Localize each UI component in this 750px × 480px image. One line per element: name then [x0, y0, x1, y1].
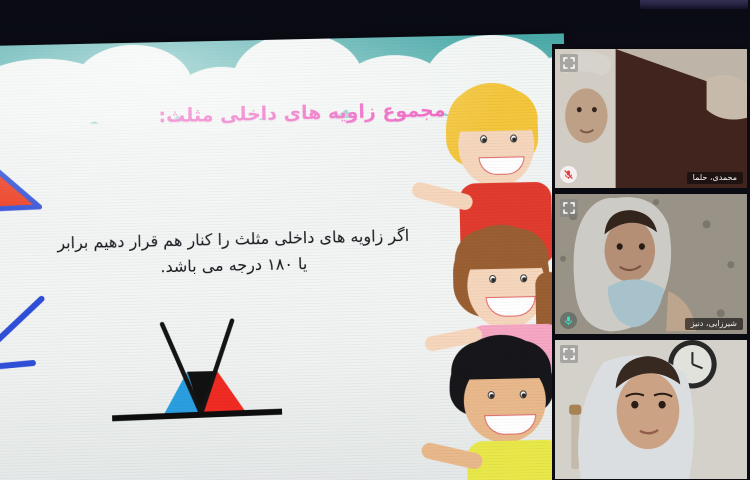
video-tile[interactable] [554, 339, 748, 480]
kid-eye [489, 275, 496, 283]
microphone-on-icon[interactable] [560, 312, 577, 329]
kid-eye [488, 391, 495, 399]
slide-canvas: مجموع زاویه های داخلی مثلث: اگر زاویه ها… [0, 33, 574, 480]
participant-name-tag: محمدی، حلما [687, 172, 743, 184]
kid-fringe [451, 340, 552, 380]
video-feed [555, 340, 747, 480]
baseline [112, 412, 282, 419]
expand-fullscreen-icon[interactable] [560, 54, 578, 72]
video-participant-column: محمدی، حلما [552, 44, 750, 480]
kid-eye [480, 135, 487, 143]
screenshot-root: مجموع زاویه های داخلی مثلث: اگر زاویه ها… [0, 0, 750, 480]
video-tile[interactable]: محمدی، حلما [554, 48, 748, 189]
video-tile[interactable]: شیرزایی، دنیز [554, 193, 748, 334]
expand-glyph [563, 202, 575, 214]
window-controls-strip[interactable] [640, 0, 748, 9]
expand-glyph [563, 57, 575, 69]
kid-dark-hair-yellow-shirt [420, 333, 573, 480]
video-feed [555, 49, 747, 189]
angles-on-line-diagram [104, 311, 296, 427]
kid-fringe [454, 228, 549, 270]
expand-fullscreen-icon[interactable] [560, 199, 578, 217]
slide-body-line-1: اگر زاویه های داخلی مثلث را کنار هم قرار… [57, 226, 409, 253]
blue-angle-partial [0, 293, 53, 377]
kid-fringe [447, 88, 538, 132]
expand-fullscreen-icon[interactable] [560, 345, 578, 363]
red-filled-triangle-partial [0, 133, 48, 217]
video-feed [555, 194, 747, 334]
kid-eye [510, 134, 517, 142]
participant-name-tag: شیرزایی، دنیز [685, 318, 743, 330]
expand-glyph [563, 348, 575, 360]
projected-slide: مجموع زاویه های داخلی مثلث: اگر زاویه ها… [0, 33, 574, 480]
mic-glyph [563, 169, 574, 180]
mic-glyph [563, 315, 574, 326]
kid-arm [410, 180, 474, 211]
